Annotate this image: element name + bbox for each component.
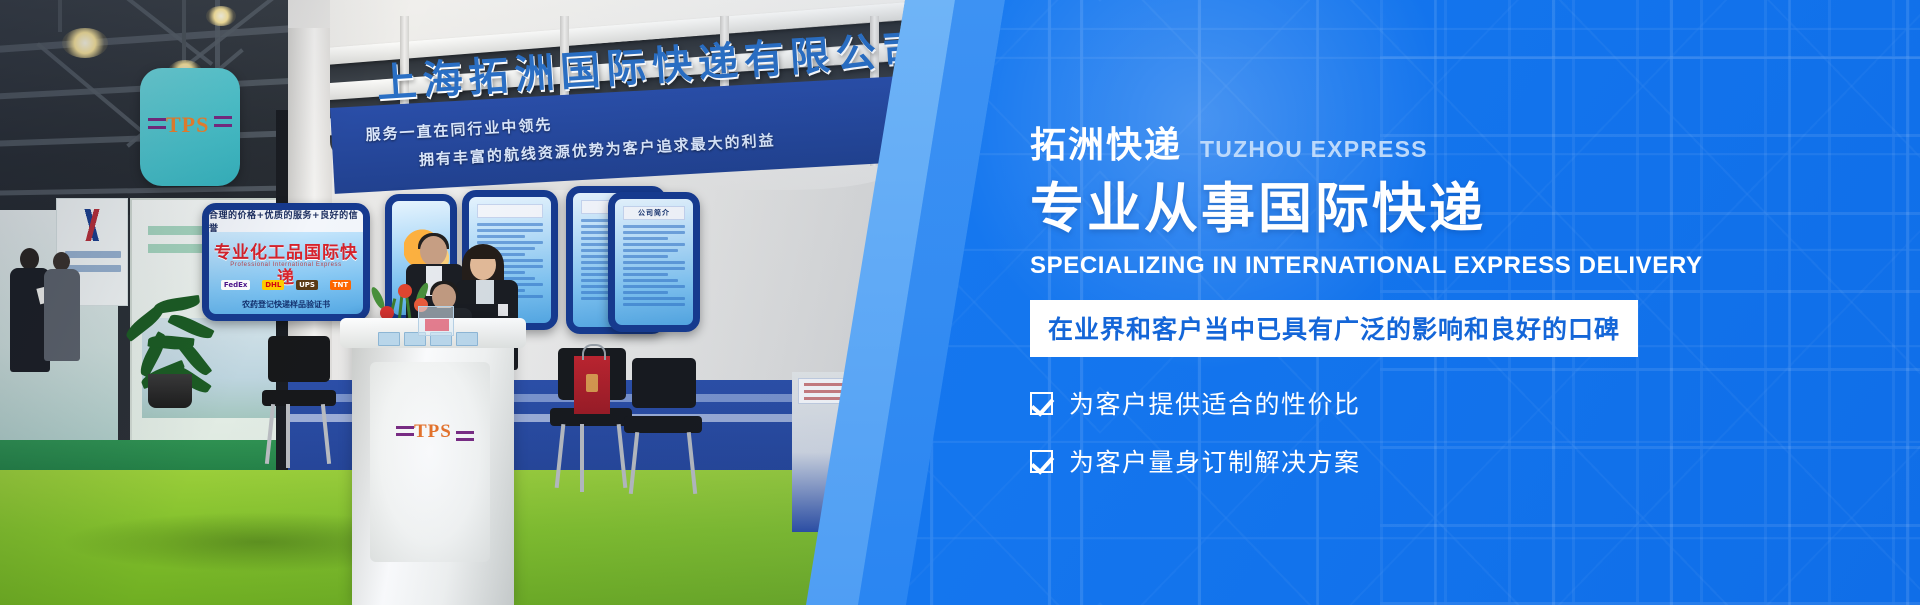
chair-leg [321,404,331,464]
desk-tps-logo: TPS [396,414,474,448]
exhibition-booth-photo: TPS 上海拓洲国际快递有限公司 [0,0,905,605]
person-body [44,269,80,361]
hero-banner: TPS 上海拓洲国际快递有限公司 [0,0,1920,605]
chair-back [268,336,330,382]
chair-seat [624,416,702,433]
subtitle-en: SPECIALIZING IN INTERNATIONAL EXPRESS DE… [1030,252,1890,280]
headline-cn: 专业从事国际快递 [1030,180,1890,238]
lightbox-caption-small [477,204,543,218]
plant-pot [148,374,192,408]
tps-logo-bar [214,124,232,127]
visitor-chair [258,336,340,468]
person-head [420,236,447,266]
brand-name-en: TUZHOU EXPRESS [1200,138,1428,164]
lightbox-subhead: Professional International Express [209,262,363,268]
ceiling-spotlight [206,6,236,26]
ups-logo: UPS [296,280,318,290]
tps-logo-text: TPS [166,112,209,138]
highlight-ribbon: 在业界和客户当中已具有广泛的影响和良好的口碑 [1030,300,1638,357]
check-square-icon [1030,392,1053,415]
tps-logo-bar [148,118,166,121]
chair-leg [580,424,584,492]
tps-logo-bar [456,431,474,434]
tps-logo-bar [396,426,414,429]
booth-slogan-line-1: 服务一直在同行业中领先 [365,114,553,145]
chair-leg [629,432,639,494]
chair-leg [286,404,290,468]
ceiling-spotlight [62,28,108,58]
visitor-person [44,252,80,362]
dhl-logo: DHL [262,280,284,290]
courier-partner-logos: FedEx DHL UPS TNT [215,278,357,292]
company-profile-lines [623,225,685,317]
lightbox-footer: 农药登记快递样品验证书 [209,299,363,310]
ballot-box [418,306,454,336]
flower-bloom [398,284,412,298]
tps-logo-bar [148,126,166,129]
feature-bullet-list: 为客户提供适合的性价比 为客户量身订制解决方案 [1030,385,1890,479]
lightbox-caption: 合理的价格+优质的服务+良好的信誉 [209,210,363,232]
banner-copy-block: 拓洲快递 TUZHOU EXPRESS 专业从事国际快递 SPECIALIZIN… [1030,112,1890,501]
person-scarf [476,280,494,304]
booth-lightbox-company-profile: 公司简介 [608,192,700,332]
visitor-chair [622,358,708,498]
highlight-ribbon-text: 在业界和客户当中已具有广泛的影响和良好的口碑 [1048,315,1620,344]
tnt-logo: TNT [330,280,351,290]
tps-logo-text: TPS [414,421,452,443]
feature-bullet-label: 为客户量身订制解决方案 [1069,443,1361,479]
lamp-rod [182,0,186,62]
tps-logo-bar [214,116,232,119]
feature-bullet-label: 为客户提供适合的性价比 [1069,385,1361,421]
check-square-icon [1030,450,1053,473]
desk-front-panel [370,362,490,562]
feature-bullet-item: 为客户量身订制解决方案 [1030,443,1890,479]
chair-leg [555,424,566,488]
tps-logo-bar [396,433,414,436]
person-head [20,248,39,270]
chair-leg [265,404,275,464]
chair-leg [687,432,697,494]
reception-desk: TPS [352,318,514,605]
company-profile-caption: 公司简介 [623,206,685,220]
chair-back [632,358,696,408]
neighbour-logo-icon [69,209,115,241]
hanging-tps-logo-sign: TPS [140,68,240,186]
brand-row: 拓洲快递 TUZHOU EXPRESS [1030,112,1890,164]
red-gift-bag [574,356,610,414]
person-badge [498,304,508,316]
feature-bullet-item: 为客户提供适合的性价比 [1030,385,1890,421]
lamp-rod [58,0,62,32]
brand-name-cn: 拓洲快递 [1030,128,1182,164]
tps-logo-bar [456,438,474,441]
